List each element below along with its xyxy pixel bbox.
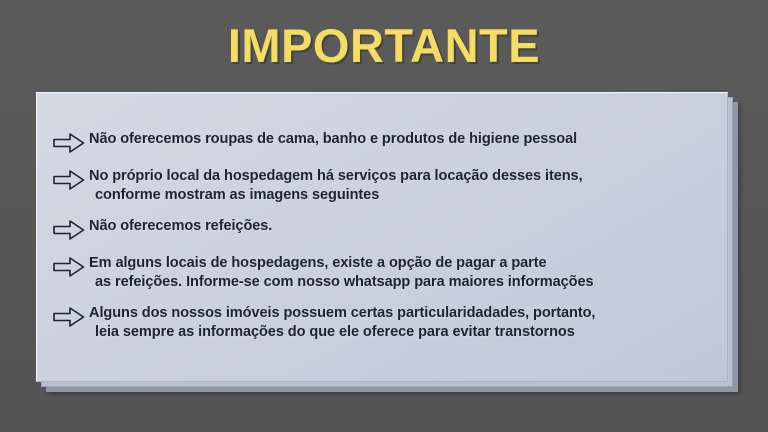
bullet-list: Não oferecemos roupas de cama, banho e p…	[36, 92, 728, 382]
list-item-line-2: leia sempre as informações do que ele of…	[95, 323, 714, 342]
list-item-text: Em alguns locais de hospedagens, existe …	[89, 254, 714, 292]
block-arrow-right-icon	[52, 255, 86, 279]
list-item: Em alguns locais de hospedagens, existe …	[52, 254, 714, 292]
list-item-line-1: No próprio local da hospedagem há serviç…	[89, 168, 583, 184]
slide-canvas: IMPORTANTE Não oferecemos roupas de cama…	[0, 0, 768, 432]
list-item-line-1: Alguns dos nossos imóveis possuem certas…	[89, 305, 595, 321]
block-arrow-right-icon	[52, 168, 86, 192]
list-item: No próprio local da hospedagem há serviç…	[52, 167, 714, 205]
list-item-text: Não oferecemos roupas de cama, banho e p…	[89, 130, 714, 149]
list-item: Alguns dos nossos imóveis possuem certas…	[52, 304, 714, 342]
list-item-line-1: Em alguns locais de hospedagens, existe …	[89, 255, 547, 271]
list-item-line-1: Não oferecemos refeições.	[89, 218, 272, 234]
block-arrow-right-icon	[52, 305, 86, 329]
list-item: Não oferecemos roupas de cama, banho e p…	[52, 130, 714, 155]
list-item: Não oferecemos refeições.	[52, 217, 714, 242]
page-title: IMPORTANTE	[0, 18, 768, 74]
list-item-text: Alguns dos nossos imóveis possuem certas…	[89, 304, 714, 342]
list-item-line-1: Não oferecemos roupas de cama, banho e p…	[89, 131, 577, 147]
list-item-text: Não oferecemos refeições.	[89, 217, 714, 236]
list-item-text: No próprio local da hospedagem há serviç…	[89, 167, 714, 205]
list-item-line-2: conforme mostram as imagens seguintes	[95, 186, 714, 205]
list-item-line-2: as refeições. Informe-se com nosso whats…	[95, 273, 714, 292]
block-arrow-right-icon	[52, 131, 86, 155]
content-panel-stack: Não oferecemos roupas de cama, banho e p…	[36, 92, 738, 392]
block-arrow-right-icon	[52, 218, 86, 242]
